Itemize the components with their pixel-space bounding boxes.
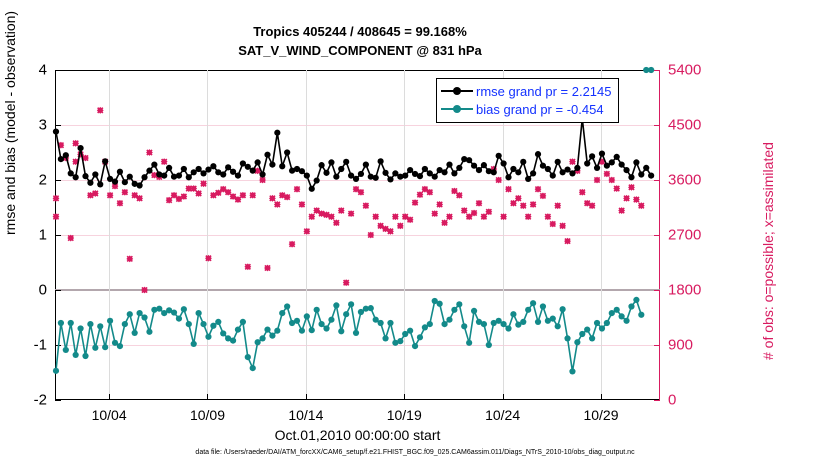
series-point [73, 352, 79, 358]
series-point [628, 303, 634, 309]
series-point [215, 319, 221, 325]
series-point [146, 168, 152, 174]
series-point [451, 170, 457, 176]
series-point [555, 323, 561, 329]
series-point [343, 311, 349, 317]
series-point [550, 173, 556, 179]
series-point [545, 166, 551, 172]
x-tick-label: 10/29 [583, 407, 618, 423]
series-point [186, 174, 192, 180]
series-point [318, 321, 324, 327]
series-point [127, 174, 133, 180]
series-point [255, 339, 261, 345]
series-point [161, 173, 167, 179]
series-point [451, 307, 457, 313]
obs-scatter-series [53, 107, 645, 293]
series-point [387, 320, 393, 326]
series-point [525, 176, 531, 182]
series-point [446, 317, 452, 323]
series-point [58, 320, 64, 326]
series-point [102, 158, 108, 164]
series-line [56, 300, 641, 372]
series-point [564, 166, 570, 172]
series-point [569, 170, 575, 176]
series-point [53, 129, 59, 135]
series-point [255, 159, 261, 165]
series-point [338, 166, 344, 172]
series-point [304, 173, 310, 179]
series-point [378, 158, 384, 164]
x-tick-label: 10/19 [387, 407, 422, 423]
series-point [309, 327, 315, 333]
series-point [491, 169, 497, 175]
series-point [628, 174, 634, 180]
y-tick-label-left: -1 [34, 337, 47, 354]
legend-label-bias: bias grand pr = -0.454 [476, 102, 604, 117]
chart-title-line1: Tropics 405244 / 408645 = 99.168% [0, 22, 720, 41]
series-point [141, 314, 147, 320]
series-point [200, 170, 206, 176]
series-point [363, 162, 369, 168]
series-point [643, 165, 649, 171]
y-tick-label-left: 1 [39, 227, 47, 244]
series-point [146, 329, 152, 335]
series-point [117, 343, 123, 349]
y-tick-label-right: 1800 [668, 282, 701, 299]
series-point [402, 173, 408, 179]
series-point [314, 307, 320, 313]
legend-label-rmse: rmse grand pr = 2.2145 [476, 84, 612, 99]
series-point [437, 301, 443, 307]
series-point [427, 321, 433, 327]
series-point [137, 182, 143, 188]
series-point [318, 162, 324, 168]
series-point [132, 330, 138, 336]
y-axis-label-right: # of obs: o=possible; x=assimilated [760, 142, 776, 360]
y-tick-label-right: 2700 [668, 227, 701, 244]
y-tick-label-right: 5400 [668, 62, 701, 79]
series-point [112, 179, 118, 185]
chart-figure: Tropics 405244 / 408645 = 99.168% SAT_V_… [0, 0, 830, 470]
series-point [87, 180, 93, 186]
y-tick-mark-right [654, 400, 660, 401]
series-point [599, 151, 605, 157]
series-point [235, 173, 241, 179]
y-tick-label-left: 2 [39, 172, 47, 189]
series-point [417, 173, 423, 179]
series-point [63, 152, 69, 158]
series-point [127, 311, 133, 317]
series-point [82, 353, 88, 359]
series-point [97, 181, 103, 187]
series-point [82, 173, 88, 179]
series-point [397, 338, 403, 344]
series-point [181, 306, 187, 312]
series-point [166, 165, 172, 171]
series-point [343, 159, 349, 165]
y-tick-mark-left [55, 400, 61, 401]
series-point [274, 328, 280, 334]
series-point [235, 327, 241, 333]
series-point [73, 174, 79, 180]
series-point [156, 306, 162, 312]
series-point [200, 321, 206, 327]
series-point [481, 162, 487, 168]
y-axis-label-left: rmse and bias (model - observation) [2, 11, 18, 235]
series-point [456, 301, 462, 307]
series-point [407, 167, 413, 173]
series-point [279, 310, 285, 316]
series-point [476, 167, 482, 173]
series-point [328, 159, 334, 165]
series-point [520, 319, 526, 325]
series-point [466, 157, 472, 163]
series-point [259, 335, 265, 341]
series-point [535, 319, 541, 325]
series-point [619, 313, 625, 319]
series-point [122, 179, 128, 185]
series-point [294, 318, 300, 324]
series-point [496, 153, 502, 159]
y-tick-label-right: 4500 [668, 117, 701, 134]
series-point [540, 303, 546, 309]
series-point [245, 164, 251, 170]
series-point [151, 162, 157, 168]
series-point [58, 156, 64, 162]
x-axis-label: Oct.01,2010 00:00:00 start [55, 427, 660, 443]
series-point [225, 164, 231, 170]
series-point [117, 169, 123, 175]
series-point [353, 330, 359, 336]
series-point [63, 347, 69, 353]
series-point [279, 163, 285, 169]
series-point [584, 160, 590, 166]
series-point [407, 328, 413, 334]
series-point [564, 335, 570, 341]
series-point [441, 321, 447, 327]
series-point [309, 186, 315, 192]
series-point [432, 174, 438, 180]
series-point [196, 166, 202, 172]
series-point [579, 331, 585, 337]
series-point [589, 335, 595, 341]
series-point [505, 325, 511, 331]
data-file-footer: data file: /Users/raeder/DAI/ATM_forcXX/… [0, 449, 830, 456]
series-point [284, 149, 290, 155]
series-point [530, 170, 536, 176]
series-point [569, 368, 575, 374]
series-point [122, 321, 128, 327]
series-point [92, 171, 98, 177]
y-tick-label-left: -2 [34, 392, 47, 409]
series-point [530, 300, 536, 306]
series-point [500, 321, 506, 327]
series-point [466, 340, 472, 346]
series-point [623, 167, 629, 173]
series-point [102, 344, 108, 350]
series-point [77, 145, 83, 151]
series-point [456, 165, 462, 171]
x-tick-label: 10/24 [485, 407, 520, 423]
chart-legend: rmse grand pr = 2.2145 bias grand pr = -… [436, 78, 619, 123]
series-point [510, 311, 516, 317]
series-point [186, 321, 192, 327]
series-point [358, 171, 364, 177]
y-tick-label-left: 0 [39, 282, 47, 299]
series-point [535, 151, 541, 157]
series-point [191, 341, 197, 347]
x-tick-label: 10/04 [92, 407, 127, 423]
series-point [328, 317, 334, 323]
series-point [461, 323, 467, 329]
series-point [441, 169, 447, 175]
series-point [574, 165, 580, 171]
series-point [210, 323, 216, 329]
series-point [220, 171, 226, 177]
series-point [382, 335, 388, 341]
series-point [481, 321, 487, 327]
series-point [412, 343, 418, 349]
series-point [353, 176, 359, 182]
series-point [555, 159, 561, 165]
series-point [594, 320, 600, 326]
rmse-line-series [53, 115, 654, 192]
series-point [471, 163, 477, 169]
series-point [417, 334, 423, 340]
series-point [176, 316, 182, 322]
series-point [574, 339, 580, 345]
series-point [314, 177, 320, 183]
series-point [584, 327, 590, 333]
series-point [604, 320, 610, 326]
series-point [299, 328, 305, 334]
y-tick-label-left: 4 [39, 62, 47, 79]
series-point [373, 175, 379, 181]
series-point [264, 327, 270, 333]
series-point [205, 334, 211, 340]
series-point [92, 345, 98, 351]
series-point [446, 162, 452, 168]
series-point [269, 162, 275, 168]
series-point [505, 174, 511, 180]
series-point [638, 171, 644, 177]
series-point [250, 168, 256, 174]
series-point [171, 309, 177, 315]
series-point [250, 365, 256, 371]
legend-item-bias: bias grand pr = -0.454 [441, 100, 612, 118]
series-point [614, 307, 620, 313]
x-tick-label: 10/14 [288, 407, 323, 423]
legend-item-rmse: rmse grand pr = 2.2145 [441, 82, 612, 100]
series-point [333, 174, 339, 180]
series-point [520, 159, 526, 165]
series-point [53, 368, 59, 374]
series-point [589, 153, 595, 159]
series-point [230, 338, 236, 344]
series-point [245, 354, 251, 360]
series-point [77, 325, 83, 331]
series-point [333, 302, 339, 308]
series-point [560, 306, 566, 312]
series-point [87, 321, 93, 327]
series-point [196, 310, 202, 316]
series-point [348, 301, 354, 307]
series-point [633, 159, 639, 165]
series-point [181, 166, 187, 172]
series-point [594, 165, 600, 171]
series-point [378, 320, 384, 326]
series-point [382, 170, 388, 176]
series-point [323, 325, 329, 331]
series-point [614, 154, 620, 160]
series-point [619, 162, 625, 168]
series-point [68, 320, 74, 326]
y-tick-label-left: 3 [39, 117, 47, 134]
series-point [68, 170, 74, 176]
series-point [500, 160, 506, 166]
series-point [230, 169, 236, 175]
rmse-line-swatch-icon [441, 85, 473, 97]
series-point [609, 159, 615, 165]
series-point [486, 342, 492, 348]
series-point [599, 325, 605, 331]
series-point [107, 318, 113, 324]
series-point [137, 310, 143, 316]
series-point [97, 323, 103, 329]
series-point [525, 307, 531, 313]
series-point [323, 170, 329, 176]
series-point [515, 169, 521, 175]
x-tick-label: 10/09 [190, 407, 225, 423]
series-point [387, 176, 393, 182]
series-point [338, 328, 344, 334]
series-point [259, 171, 265, 177]
y-tick-label-right: 0 [668, 392, 676, 409]
series-point [633, 297, 639, 303]
series-point [269, 333, 275, 339]
series-point [220, 330, 226, 336]
series-point [550, 316, 556, 322]
series-point [274, 130, 280, 136]
series-point [422, 166, 428, 172]
series-point [210, 163, 216, 169]
series-point [368, 305, 374, 311]
series-point [648, 67, 654, 73]
y-tick-label-right: 900 [668, 337, 693, 354]
chart-title-line2: SAT_V_WIND_COMPONENT @ 831 hPa [0, 41, 720, 60]
bias-line-swatch-icon [441, 103, 473, 115]
series-point [264, 152, 270, 158]
chart-title: Tropics 405244 / 408645 = 99.168% SAT_V_… [0, 22, 720, 60]
series-point [623, 318, 629, 324]
series-point [648, 173, 654, 179]
series-point [299, 168, 305, 174]
series-point [176, 173, 182, 179]
y-tick-label-right: 3600 [668, 172, 701, 189]
series-point [638, 312, 644, 318]
series-point [471, 308, 477, 314]
series-point [240, 319, 246, 325]
series-point [284, 303, 290, 309]
series-point [141, 174, 147, 180]
series-point [304, 313, 310, 319]
